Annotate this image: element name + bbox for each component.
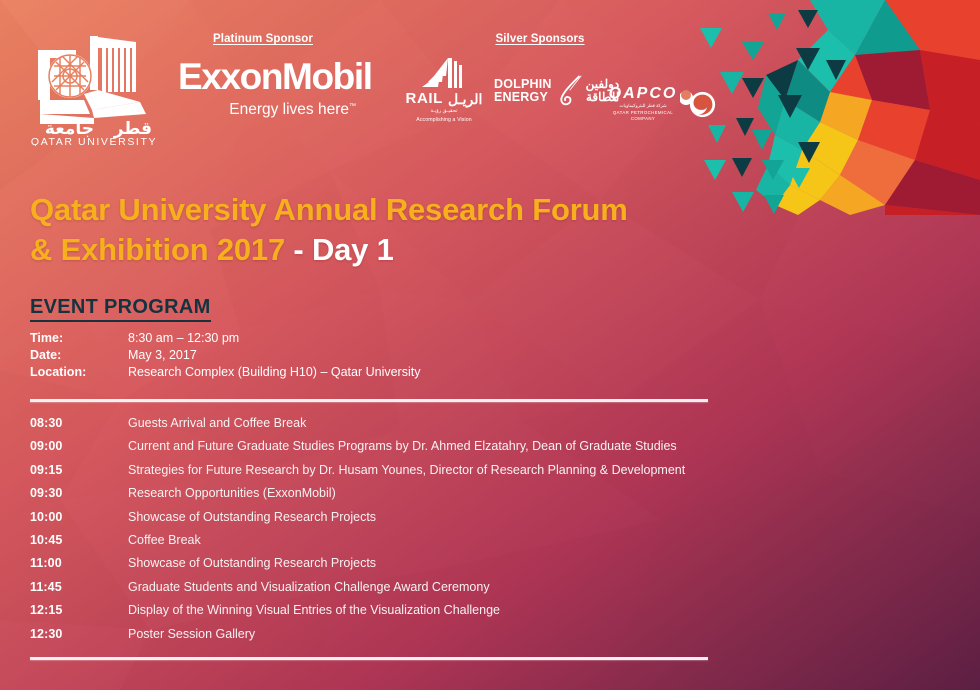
schedule-time: 12:30 <box>30 627 128 641</box>
schedule-item: Guests Arrival and Coffee Break <box>128 416 710 430</box>
schedule-time: 11:45 <box>30 580 128 594</box>
trademark-mark: ™ <box>349 103 356 110</box>
sponsor-band: جامعة قطر QATAR UNIVERSITY Platinum Spon… <box>0 0 720 150</box>
schedule-row: 09:00 Current and Future Graduate Studie… <box>30 439 710 462</box>
schedule-row: 08:30 Guests Arrival and Coffee Break <box>30 416 710 439</box>
schedule-item: Strategies for Future Research by Dr. Hu… <box>128 463 710 477</box>
schedule-item: Poster Session Gallery <box>128 627 710 641</box>
meta-label-date: Date: <box>30 347 128 364</box>
schedule-time: 09:00 <box>30 439 128 453</box>
schedule-row: 12:30 Poster Session Gallery <box>30 627 710 650</box>
schedule-row: 12:15 Display of the Winning Visual Entr… <box>30 603 710 626</box>
schedule-row: 11:45 Graduate Students and Visualizatio… <box>30 580 710 603</box>
schedule-item: Graduate Students and Visualization Chal… <box>128 580 710 594</box>
dolphin-word-line2: ENERGY <box>494 91 552 105</box>
schedule-time: 12:15 <box>30 603 128 617</box>
schedule-list: 08:30 Guests Arrival and Coffee Break 09… <box>30 416 710 650</box>
event-meta-row: Date: May 3, 2017 <box>30 347 690 364</box>
schedule-item: Coffee Break <box>128 533 710 547</box>
dolphin-symbol-icon <box>556 74 582 108</box>
event-meta-row: Location: Research Complex (Building H10… <box>30 364 690 381</box>
rail-wordmark-arabic: الريـل <box>448 92 482 106</box>
exxon-letter-x2: x <box>220 56 239 97</box>
silver-sponsors-heading: Silver Sponsors <box>455 33 625 45</box>
meta-label-location: Location: <box>30 364 128 381</box>
qatar-university-logo: جامعة قطر QATAR UNIVERSITY <box>28 28 160 146</box>
schedule-row: 09:30 Research Opportunities (ExxonMobil… <box>30 486 710 509</box>
schedule-row: 10:45 Coffee Break <box>30 533 710 556</box>
rail-logo: RAIL الريـل تحقيـق رؤيـة Accomplishing a… <box>404 56 484 122</box>
schedule-item: Display of the Winning Visual Entries of… <box>128 603 710 617</box>
platinum-sponsor-group: Platinum Sponsor <box>178 33 348 45</box>
meta-value-time: 8:30 am – 12:30 pm <box>128 330 690 347</box>
qu-english-name: QATAR UNIVERSITY <box>31 136 157 146</box>
page-title: Qatar University Annual Research Forum &… <box>30 190 690 269</box>
dolphin-energy-logo: DOLPHIN ENERGY دولفين للطاقة <box>494 74 598 116</box>
event-meta-list: Time: 8:30 am – 12:30 pm Date: May 3, 20… <box>30 330 690 381</box>
schedule-item: Research Opportunities (ExxonMobil) <box>128 486 710 500</box>
exxonmobil-tagline: Energy lives here™ <box>178 102 358 118</box>
exxonmobil-wordmark: ExxonMobil <box>178 58 358 95</box>
dolphin-word-line1: DOLPHIN <box>494 78 552 92</box>
qapco-symbol-icon <box>689 91 716 118</box>
meta-value-date: May 3, 2017 <box>128 347 690 364</box>
schedule-time: 09:15 <box>30 463 128 477</box>
exxon-letter-e: E <box>178 56 201 97</box>
headline-line-1: Qatar University Annual Research Forum <box>30 190 690 230</box>
decorative-triangle-cluster <box>680 0 980 215</box>
rail-wordmark: RAIL <box>406 91 443 106</box>
meta-value-location: Research Complex (Building H10) – Qatar … <box>128 364 690 381</box>
schedule-row: 09:15 Strategies for Future Research by … <box>30 463 710 486</box>
platinum-sponsor-heading: Platinum Sponsor <box>178 33 348 45</box>
headline-day-label: - Day 1 <box>285 232 394 267</box>
headline-line-2: & Exhibition 2017 - Day 1 <box>30 230 690 270</box>
schedule-time: 11:00 <box>30 556 128 570</box>
schedule-item: Current and Future Graduate Studies Prog… <box>128 439 710 453</box>
silver-sponsor-group: Silver Sponsors <box>455 33 625 45</box>
schedule-item: Showcase of Outstanding Research Project… <box>128 510 710 524</box>
exxon-wordmark-rest: onMobil <box>240 56 372 97</box>
schedule-row: 10:00 Showcase of Outstanding Research P… <box>30 510 710 533</box>
qapco-logo: QAPCO شركة قطر للبتروكيماويات QATAR PETR… <box>604 86 716 120</box>
schedule-time: 10:00 <box>30 510 128 524</box>
rail-tagline-arabic: تحقيـق رؤيـة <box>404 108 484 115</box>
schedule-time: 10:45 <box>30 533 128 547</box>
meta-label-time: Time: <box>30 330 128 347</box>
schedule-item: Showcase of Outstanding Research Project… <box>128 556 710 570</box>
qapco-sub-english: QATAR PETROCHEMICAL COMPANY <box>604 110 682 122</box>
headline-line-2-main: & Exhibition 2017 <box>30 232 285 267</box>
schedule-divider-top <box>30 399 708 402</box>
event-meta-row: Time: 8:30 am – 12:30 pm <box>30 330 690 347</box>
schedule-row: 11:00 Showcase of Outstanding Research P… <box>30 556 710 579</box>
exxonmobil-logo: ExxonMobil Energy lives here™ <box>178 58 358 118</box>
event-poster: جامعة قطر QATAR UNIVERSITY Platinum Spon… <box>0 0 980 690</box>
schedule-divider-bottom <box>30 657 708 660</box>
program-section-title: EVENT PROGRAM <box>30 296 211 322</box>
schedule-time: 08:30 <box>30 416 128 430</box>
rail-tagline-english: Accomplishing a Vision <box>404 117 484 124</box>
exxon-letter-x1: x <box>201 56 220 97</box>
qapco-wordmark: QAPCO <box>604 86 682 102</box>
qapco-sub-arabic: شركة قطر للبتروكيماويات <box>604 103 682 109</box>
schedule-time: 09:30 <box>30 486 128 500</box>
